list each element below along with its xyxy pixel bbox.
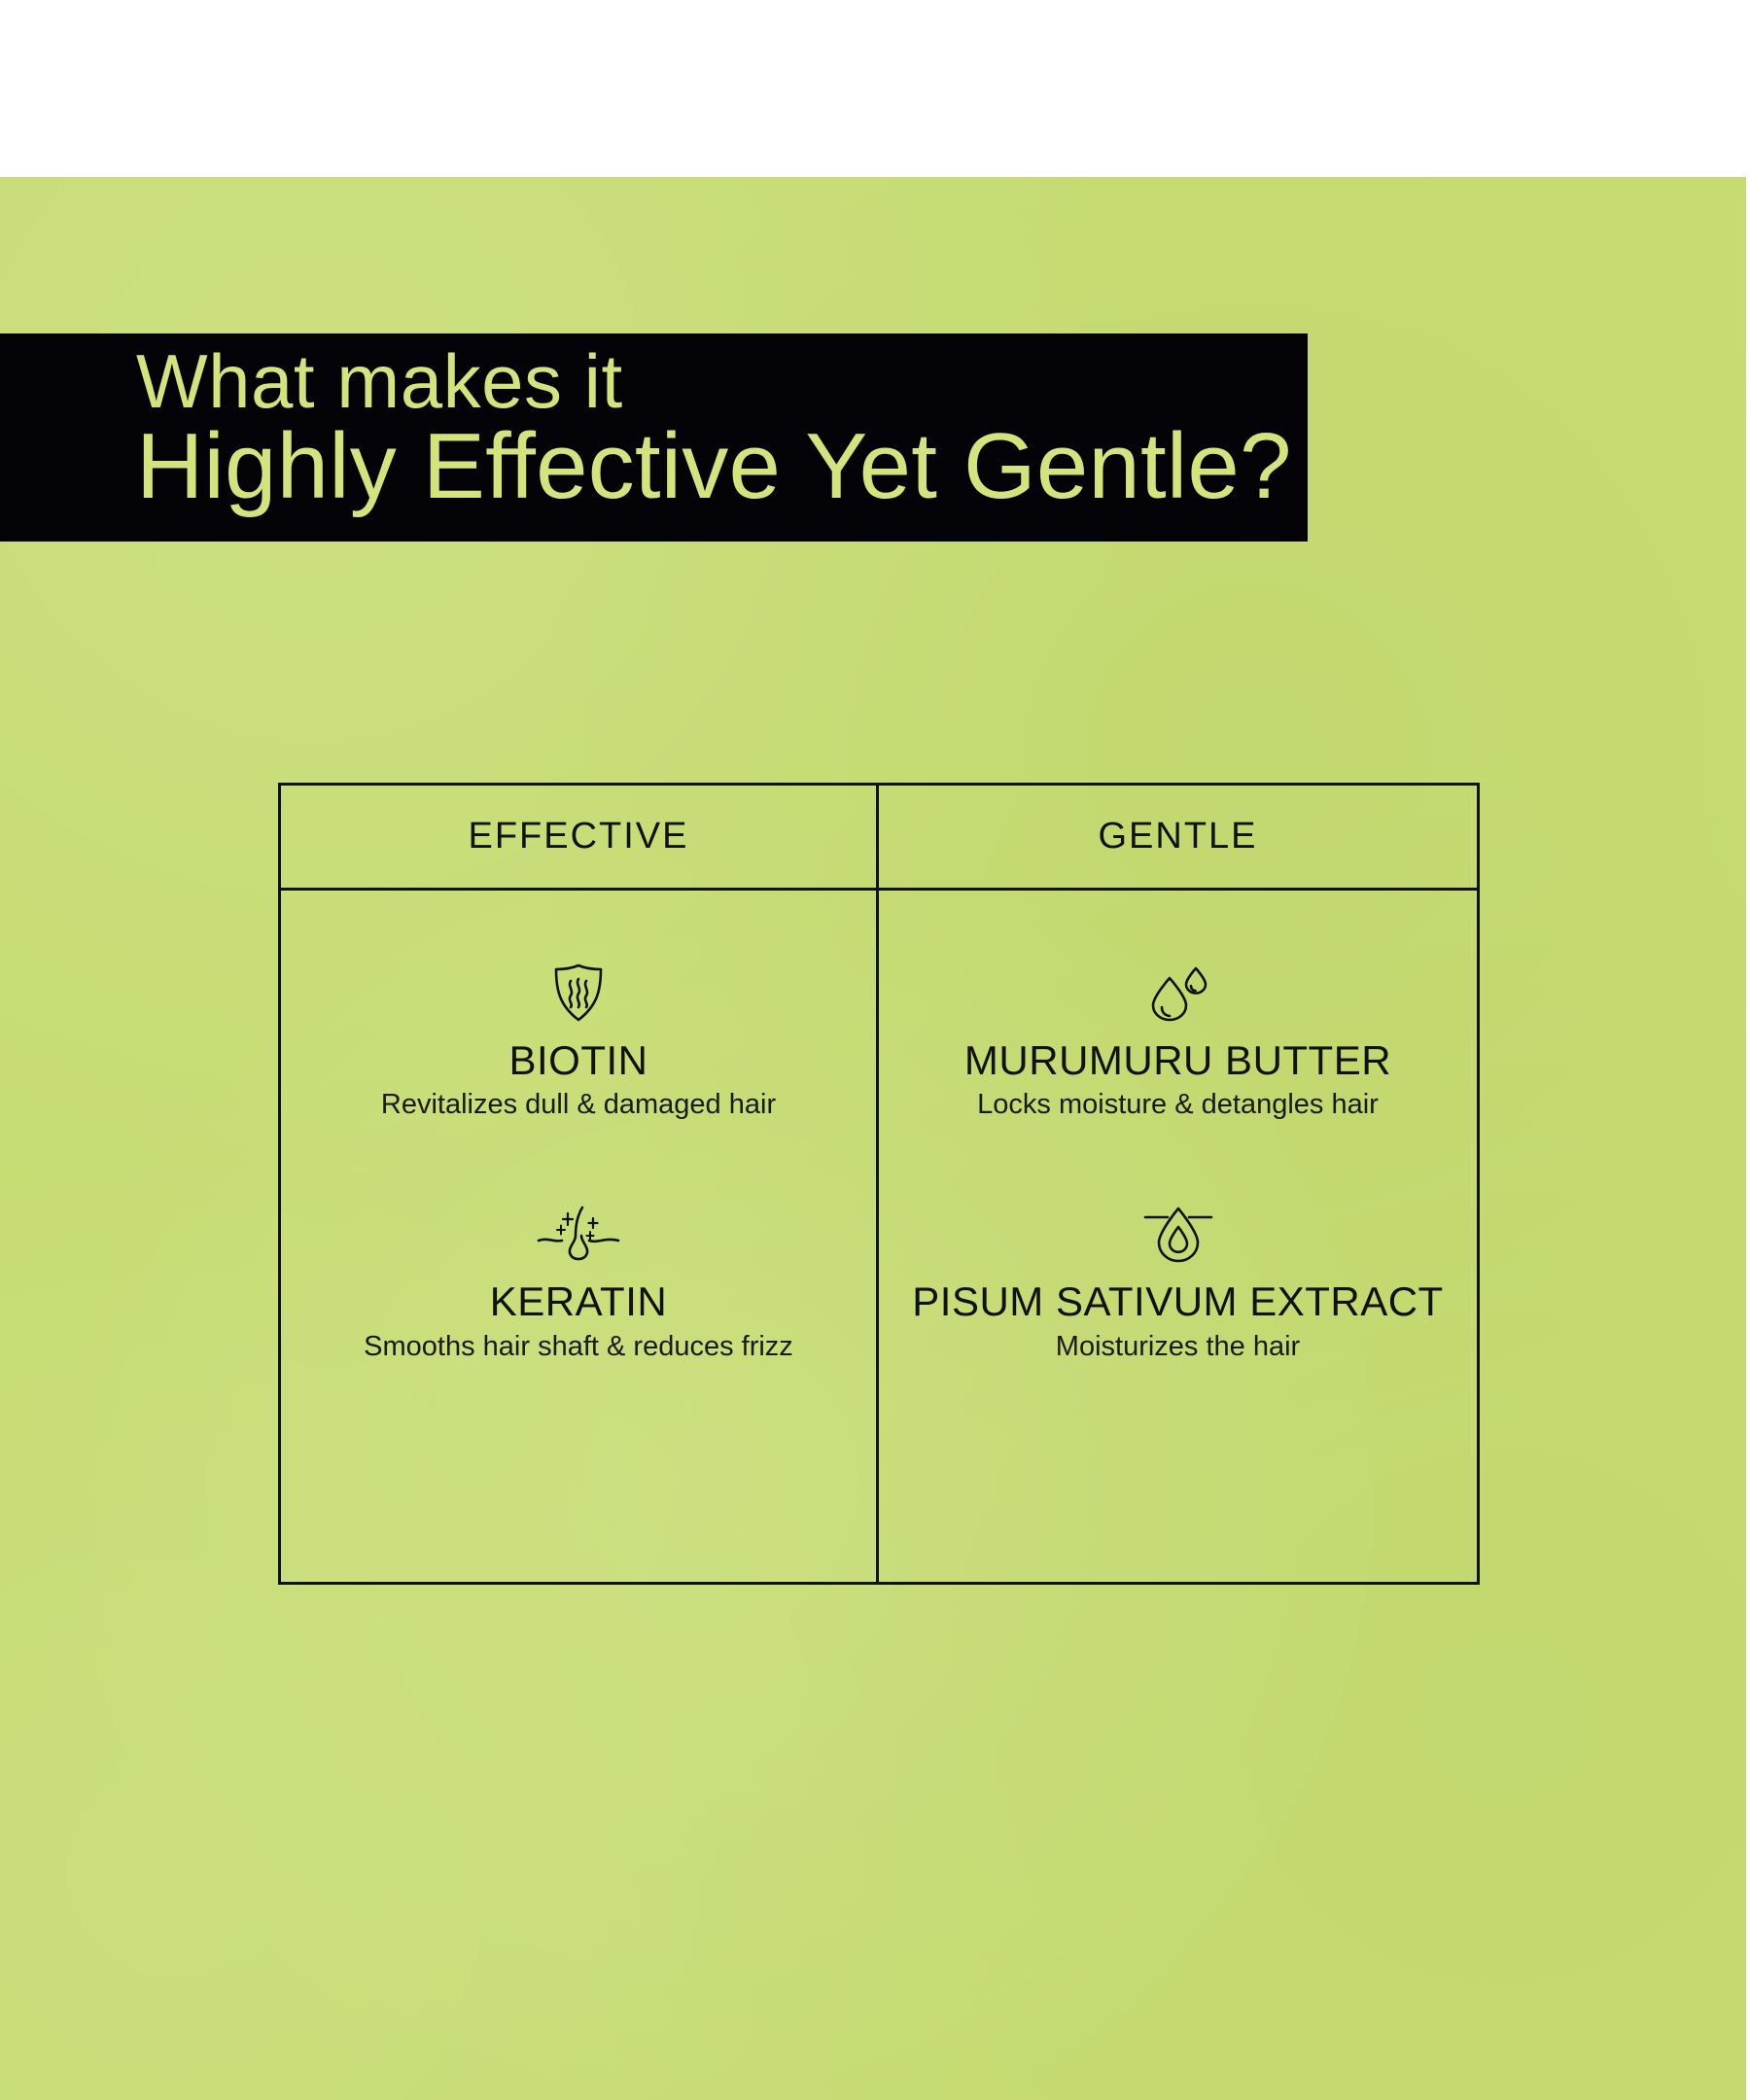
two-droplets-icon xyxy=(879,961,1477,1023)
ingredient-keratin: KERATIN Smooths hair shaft & reduces fri… xyxy=(281,1202,876,1363)
column-header-gentle: GENTLE xyxy=(879,786,1477,888)
header-banner: What makes it Highly Effective Yet Gentl… xyxy=(0,333,1308,542)
ingredient-murumuru-butter: MURUMURU BUTTER Locks moisture & detangl… xyxy=(879,961,1477,1122)
table-body: BIOTIN Revitalizes dull & damaged hair xyxy=(281,891,1477,1582)
ingredient-description: Revitalizes dull & damaged hair xyxy=(281,1088,876,1122)
ingredient-name: KERATIN xyxy=(281,1279,876,1323)
ingredient-name: MURUMURU BUTTER xyxy=(879,1038,1477,1082)
comparison-table: EFFECTIVE GENTLE xyxy=(278,783,1480,1585)
ingredient-description: Smooths hair shaft & reduces frizz xyxy=(281,1330,876,1364)
column-header-effective-label: EFFECTIVE xyxy=(468,816,688,857)
droplet-absorb-icon xyxy=(879,1202,1477,1264)
ingredient-pisum-sativum-extract: PISUM SATIVUM EXTRACT Moisturizes the ha… xyxy=(879,1202,1477,1363)
column-header-effective: EFFECTIVE xyxy=(281,786,879,888)
page-title-line-1: What makes it xyxy=(136,343,623,419)
hair-follicle-sparkle-icon xyxy=(281,1202,876,1264)
column-header-gentle-label: GENTLE xyxy=(1098,816,1257,857)
header-title-block: What makes it Highly Effective Yet Gentl… xyxy=(136,333,1303,542)
page-title-line-2: Highly Effective Yet Gentle? xyxy=(136,415,1292,518)
ingredient-name: BIOTIN xyxy=(281,1038,876,1082)
ingredient-name: PISUM SATIVUM EXTRACT xyxy=(879,1279,1477,1323)
ingredient-description: Moisturizes the hair xyxy=(879,1330,1477,1364)
column-effective: BIOTIN Revitalizes dull & damaged hair xyxy=(281,891,879,1582)
ingredient-description: Locks moisture & detangles hair xyxy=(879,1088,1477,1122)
shield-hair-icon xyxy=(281,961,876,1023)
column-gentle: MURUMURU BUTTER Locks moisture & detangl… xyxy=(879,891,1477,1582)
table-header-row: EFFECTIVE GENTLE xyxy=(281,786,1477,891)
ingredient-biotin: BIOTIN Revitalizes dull & damaged hair xyxy=(281,961,876,1122)
poster-canvas: What makes it Highly Effective Yet Gentl… xyxy=(0,177,1746,2100)
